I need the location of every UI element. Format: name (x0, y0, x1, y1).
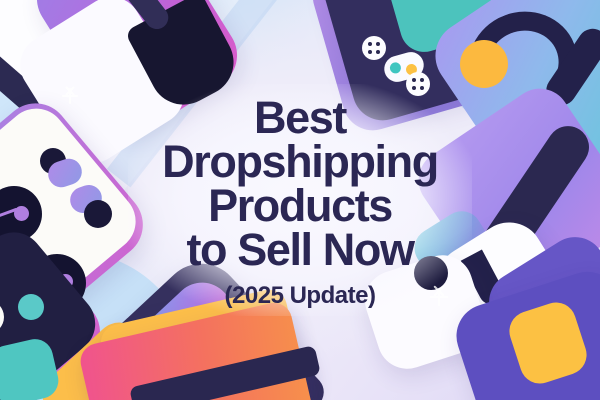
title-line-4: to Sell Now (0, 228, 600, 272)
title-line-1: Best (0, 96, 600, 140)
orange-ball-icon (460, 40, 508, 88)
button-dots-icon (406, 72, 430, 96)
title-block: Best Dropshipping Products to Sell Now (… (0, 96, 600, 310)
page-title: Best Dropshipping Products to Sell Now (0, 96, 600, 272)
title-line-3: Products (0, 184, 600, 228)
hero-banner: Best Dropshipping Products to Sell Now (… (0, 0, 600, 400)
button-dots-icon (362, 36, 386, 60)
page-subtitle: (2025 Update) (0, 282, 600, 310)
title-line-2: Dropshipping (0, 140, 600, 184)
